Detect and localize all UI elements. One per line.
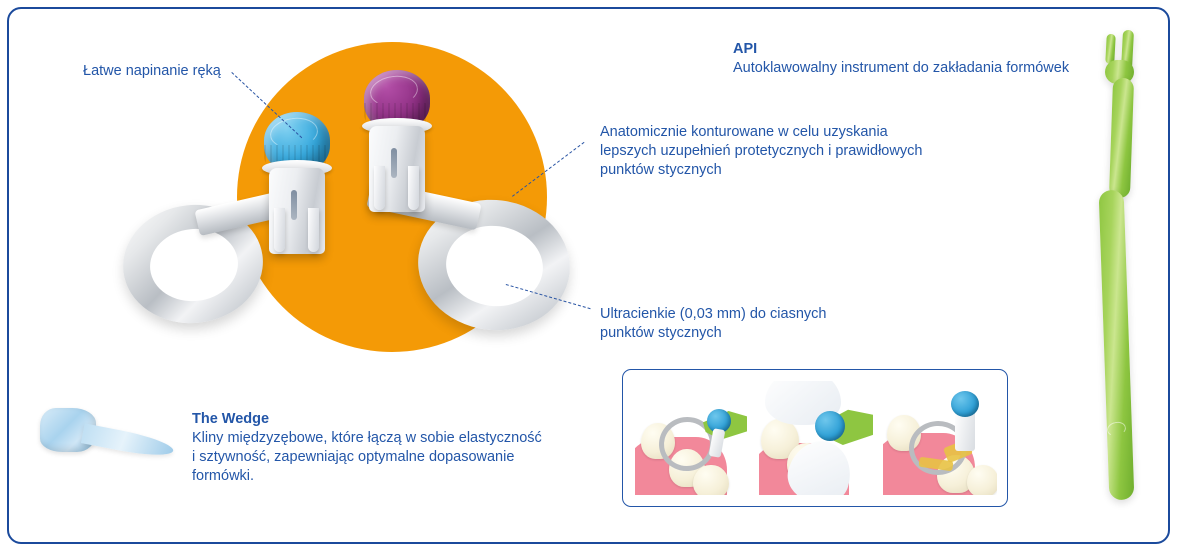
api-instrument — [1098, 30, 1142, 502]
blue-device-prong-right — [308, 208, 319, 252]
purple-device-prong-left — [374, 166, 385, 210]
blue-knob-mini — [815, 411, 845, 441]
device-body-mini — [955, 411, 975, 451]
tooth — [693, 465, 729, 495]
tooth — [967, 465, 997, 495]
callout-ultrathin: Ultracienkie (0,03 mm) do ciasnych punkt… — [600, 305, 826, 343]
infographic-page: Łatwe napinanie ręką Anatomicznie kontur… — [0, 0, 1177, 551]
callout-hand-tension: Łatwe napinanie ręką — [83, 62, 221, 81]
callout-anatomic: Anatomicznie konturowane w celu uzyskani… — [600, 123, 922, 180]
api-title: API — [733, 40, 757, 59]
clinical-photo-3 — [883, 381, 997, 495]
purple-device-prong-right — [408, 166, 419, 210]
wedge-description: Kliny międzyzębowe, które łączą w sobie … — [192, 429, 542, 486]
api-neck — [1109, 78, 1134, 199]
clinical-photo-strip — [622, 369, 1008, 507]
matrix-tensioner-blue — [258, 112, 358, 257]
wedge-title: The Wedge — [192, 410, 269, 429]
api-description: Autoklawowalny instrument do zakładania … — [733, 59, 1069, 78]
wedge-tail — [81, 423, 175, 460]
matrix-tensioner-purple — [358, 70, 458, 220]
purple-device-slot — [391, 148, 397, 178]
blue-device-prong-left — [274, 208, 285, 252]
clinical-photo-2 — [759, 381, 873, 495]
wedge-product-image — [38, 398, 178, 480]
blue-knob-mini — [951, 391, 979, 417]
blue-device-slot — [291, 190, 297, 220]
api-handle — [1099, 190, 1135, 501]
clinical-photo-1 — [635, 381, 749, 495]
